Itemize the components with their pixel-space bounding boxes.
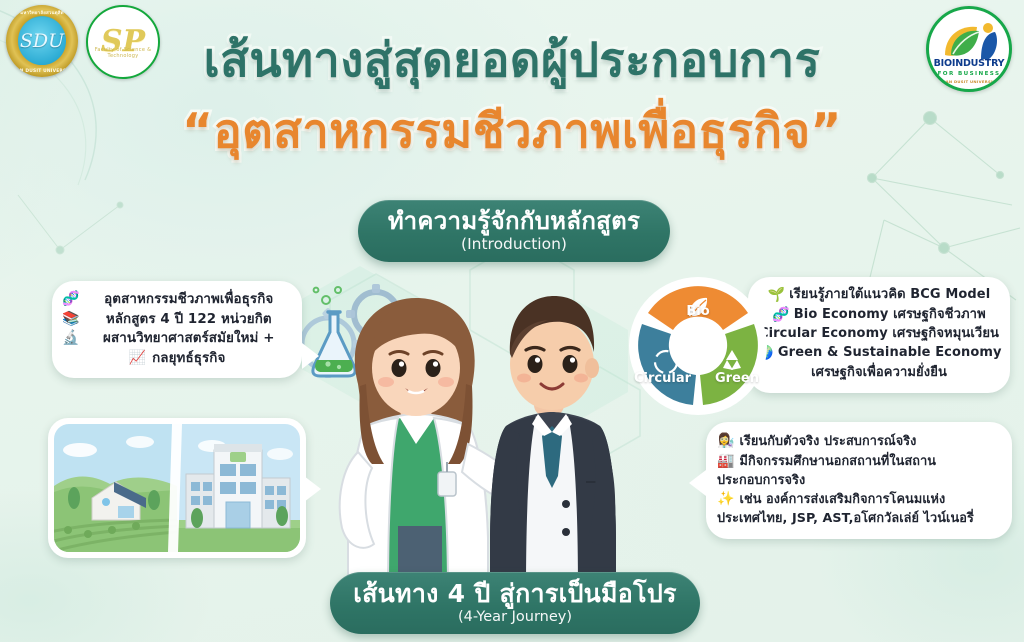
program-line-2: หลักสูตร 4 ปี 122 หน่วยกิต xyxy=(86,310,292,330)
journey-banner: เส้นทาง 4 ปี สู่การเป็นมือโปร (4-Year Jo… xyxy=(330,572,700,634)
list-item: 👩‍🔬 เรียนกับตัวจริง ประสบการณ์จริง xyxy=(717,432,1001,452)
journey-banner-thai: เส้นทาง 4 ปี สู่การเป็นมือโปร xyxy=(353,580,676,609)
farm-field-illustration xyxy=(54,424,177,552)
male-businessman xyxy=(490,296,616,592)
chart-increasing-icon: 📈 xyxy=(129,349,147,369)
bcg-line-4: Green & Sustainable Economy xyxy=(778,344,1002,363)
sparkles-icon: ✨ xyxy=(717,490,735,510)
list-item: ✨ เช่น องค์การส่งเสริมกิจการโคนมแห่ง xyxy=(717,490,1001,510)
microscope-icon: 🔬 xyxy=(62,329,80,349)
list-item: 📈 กลยุทธ์ธุรกิจ xyxy=(62,349,292,369)
bcg-model-card: 🌱 เรียนรู้ภายใต้แนวคิด BCG Model 🧬 Bio E… xyxy=(748,277,1010,393)
dna-icon: 🧬 xyxy=(772,306,790,326)
real-line-5: ประเทศไทย, JSP, AST,อโศกวัลเล่ย์ ไวน์เนอ… xyxy=(717,509,974,528)
characters-illustration xyxy=(300,276,630,592)
real-line-4: เช่น องค์การส่งเสริมกิจการโคนมแห่ง xyxy=(740,490,946,509)
scientist-icon: 👩‍🔬 xyxy=(717,432,735,452)
list-item: 🏭 มีกิจกรรมศึกษานอกสถานที่ในสถาน xyxy=(717,452,1001,472)
bcg-label-green: Green xyxy=(715,371,759,386)
list-item: 🌍 Green & Sustainable Economy xyxy=(756,344,1002,364)
introduction-banner: ทำความรู้จักกับหลักสูตร (Introduction) xyxy=(358,200,670,262)
real-line-1: เรียนกับตัวจริง ประสบการณ์จริง xyxy=(740,432,917,451)
list-item: Circular Economy เศรษฐกิจหมุนเวียน xyxy=(756,325,1002,344)
list-item: 🧬 Bio Economy เศรษฐกิจชีวภาพ xyxy=(756,306,1002,326)
bcg-line-5: เศรษฐกิจเพื่อความยั่งยืน xyxy=(811,364,947,383)
list-item: เศรษฐกิจเพื่อความยั่งยืน xyxy=(756,364,1002,383)
list-item: 🌱 เรียนรู้ภายใต้แนวคิด BCG Model xyxy=(756,286,1002,306)
headline-line-2: “อุตสาหกรรมชีวภาพเพื่อธุรกิจ” xyxy=(0,105,1024,159)
real-line-3: ประกอบการจริง xyxy=(717,471,805,490)
bcg-label-circular: Circular xyxy=(634,371,691,386)
real-line-2: มีกิจกรรมศึกษานอกสถานที่ในสถาน xyxy=(740,452,937,471)
factory-icon: 🏭 xyxy=(717,452,735,472)
bcg-model-wheel: Bio Green Circular xyxy=(628,276,768,416)
program-overview-card: 🧬 อุตสาหกรรมชีวภาพเพื่อธุรกิจ 📚 หลักสูตร… xyxy=(52,281,302,378)
bcg-line-2: Bio Economy เศรษฐกิจชีวภาพ xyxy=(794,306,986,325)
farm-and-office-photo-card xyxy=(48,418,306,558)
program-line-4: กลยุทธ์ธุรกิจ xyxy=(152,349,225,369)
real-experience-card: 👩‍🔬 เรียนกับตัวจริง ประสบการณ์จริง 🏭 มีก… xyxy=(706,422,1012,539)
photo-frame xyxy=(54,424,300,552)
journey-banner-english: (4-Year Journey) xyxy=(458,608,572,626)
list-item: 🧬 อุตสาหกรรมชีวภาพเพื่อธุรกิจ xyxy=(62,290,292,310)
program-line-1: อุตสาหกรรมชีวภาพเพื่อธุรกิจ xyxy=(86,290,292,310)
dna-icon: 🧬 xyxy=(62,290,80,310)
list-item: 📚 หลักสูตร 4 ปี 122 หน่วยกิต xyxy=(62,310,292,330)
headline-line-1: เส้นทางสู่สุดยอดผู้ประกอบการ xyxy=(0,34,1024,88)
seedling-icon: 🌱 xyxy=(768,286,786,306)
real-card-tail xyxy=(689,470,706,496)
books-icon: 📚 xyxy=(62,310,80,330)
program-line-3: ผสานวิทยาศาสตร์สมัยใหม่ + xyxy=(86,329,292,349)
introduction-banner-thai: ทำความรู้จักกับหลักสูตร xyxy=(388,208,640,236)
list-item: ประกอบการจริง xyxy=(717,471,1001,490)
bcg-label-bio: Bio xyxy=(686,304,709,319)
infographic-poster: มหาวิทยาลัยสวนดุสิต SUAN DUSIT UNIVERSIT… xyxy=(0,0,1024,642)
introduction-banner-english: (Introduction) xyxy=(461,235,567,254)
list-item: 🔬 ผสานวิทยาศาสตร์สมัยใหม่ + xyxy=(62,329,292,349)
office-building-illustration xyxy=(177,424,300,552)
bcg-line-3: Circular Economy เศรษฐกิจหมุนเวียน xyxy=(759,325,999,344)
bcg-line-1: เรียนรู้ภายใต้แนวคิด BCG Model xyxy=(789,286,990,305)
list-item: ประเทศไทย, JSP, AST,อโศกวัลเล่ย์ ไวน์เนอ… xyxy=(717,509,1001,528)
